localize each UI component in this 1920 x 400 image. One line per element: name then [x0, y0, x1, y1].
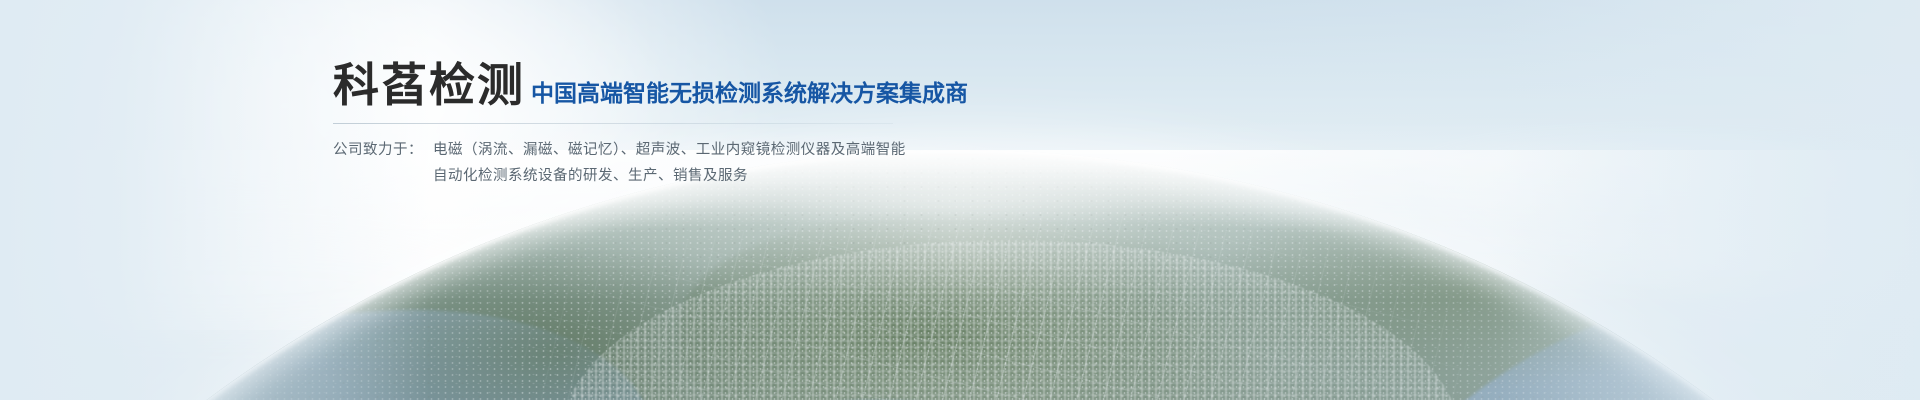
banner-copy: 科萏检测 中国高端智能无损检测系统解决方案集成商 公司致力于： 电磁（涡流、漏磁…	[333, 62, 1293, 189]
hero-banner: 科萏检测 中国高端智能无损检测系统解决方案集成商 公司致力于： 电磁（涡流、漏磁…	[0, 0, 1920, 400]
description-line-2: 自动化检测系统设备的研发、生产、销售及服务	[433, 163, 906, 189]
company-name: 科萏检测	[333, 62, 525, 108]
globe-container	[0, 0, 1920, 400]
title-divider	[333, 123, 893, 124]
description-line-1: 电磁（涡流、漏磁、磁记忆）、超声波、工业内窥镜检测仪器及高端智能	[433, 137, 906, 163]
brand-title-row: 科萏检测 中国高端智能无损检测系统解决方案集成商	[333, 62, 1293, 108]
description-block: 公司致力于： 电磁（涡流、漏磁、磁记忆）、超声波、工业内窥镜检测仪器及高端智能 …	[333, 137, 1293, 189]
company-slogan: 中国高端智能无损检测系统解决方案集成商	[531, 83, 968, 108]
description-label: 公司致力于：	[333, 137, 423, 163]
description-lines: 电磁（涡流、漏磁、磁记忆）、超声波、工业内窥镜检测仪器及高端智能 自动化检测系统…	[433, 137, 906, 189]
